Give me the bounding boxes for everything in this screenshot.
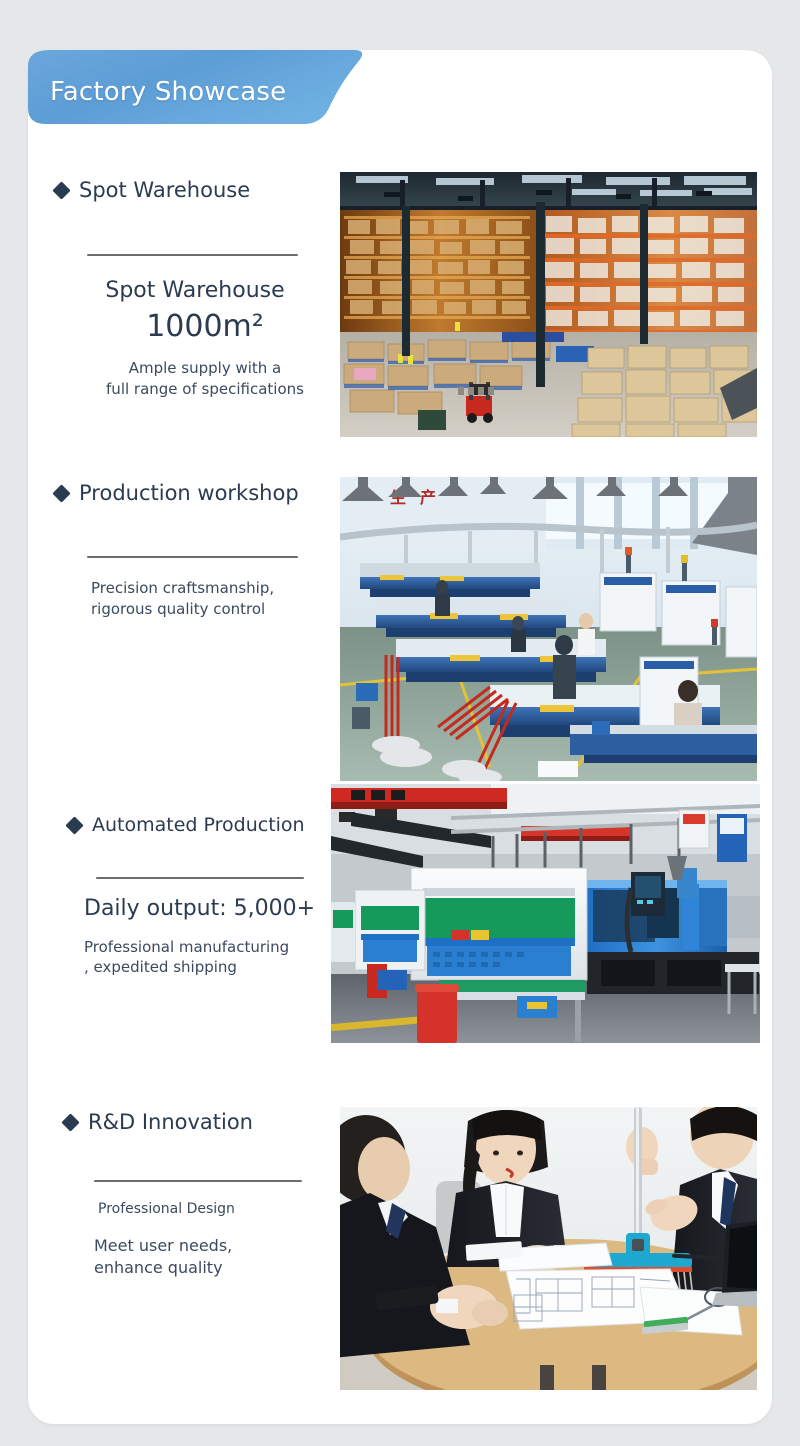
section-desc-line1: Precision craftsmanship, bbox=[91, 578, 345, 599]
section-desc-line2: enhance quality bbox=[94, 1257, 354, 1279]
divider bbox=[87, 254, 298, 256]
photo-design-meeting bbox=[340, 1107, 757, 1390]
section-production-workshop: Production workshop Precision craftsmans… bbox=[55, 483, 345, 619]
diamond-icon bbox=[52, 181, 70, 199]
section-desc-line1: Professional manufacturing bbox=[84, 937, 358, 958]
section-rd-innovation: R&D Innovation Professional Design Meet … bbox=[64, 1112, 354, 1279]
photo-warehouse-interior bbox=[340, 172, 757, 437]
photo-injection-molding-machines bbox=[331, 784, 760, 1043]
photo-production-workshop: 生产 bbox=[340, 477, 757, 781]
section-heading-label: Production workshop bbox=[79, 483, 299, 504]
divider bbox=[96, 877, 304, 879]
diamond-icon bbox=[65, 816, 83, 834]
diamond-icon bbox=[52, 484, 70, 502]
section-heading-label: R&D Innovation bbox=[88, 1112, 253, 1133]
divider bbox=[87, 556, 298, 558]
diamond-icon bbox=[61, 1113, 79, 1131]
section-title-spot-warehouse: Spot Warehouse bbox=[55, 277, 335, 306]
section-title-rd-innovation: Professional Design bbox=[98, 1200, 354, 1219]
section-heading-automated-production: Automated Production bbox=[68, 816, 358, 835]
section-desc-line2: full range of specifications bbox=[55, 379, 355, 400]
section-desc-line2: rigorous quality control bbox=[91, 599, 345, 620]
factory-showcase-card: Spot Warehouse Spot Warehouse 1000m² Amp… bbox=[28, 50, 772, 1424]
section-desc-line1: Meet user needs, bbox=[94, 1235, 354, 1257]
section-desc-line1: Ample supply with a bbox=[55, 358, 355, 379]
section-automated-production: Automated Production Daily output: 5,000… bbox=[68, 816, 358, 978]
section-highlight-spot-warehouse: 1000m² bbox=[55, 308, 355, 346]
section-heading-production-workshop: Production workshop bbox=[55, 483, 345, 504]
banner: Factory Showcase bbox=[28, 50, 368, 134]
section-desc-line2: , expedited shipping bbox=[84, 957, 358, 978]
svg-text:产: 产 bbox=[420, 488, 436, 507]
section-heading-spot-warehouse: Spot Warehouse bbox=[55, 180, 345, 201]
section-heading-label: Automated Production bbox=[92, 816, 305, 835]
divider bbox=[94, 1180, 302, 1182]
banner-title: Factory Showcase bbox=[38, 50, 368, 134]
section-highlight-automated-production: Daily output: 5,000+ bbox=[84, 895, 358, 923]
section-spot-warehouse: Spot Warehouse Spot Warehouse 1000m² Amp… bbox=[55, 180, 345, 399]
section-heading-rd-innovation: R&D Innovation bbox=[64, 1112, 354, 1133]
section-heading-label: Spot Warehouse bbox=[79, 180, 250, 201]
